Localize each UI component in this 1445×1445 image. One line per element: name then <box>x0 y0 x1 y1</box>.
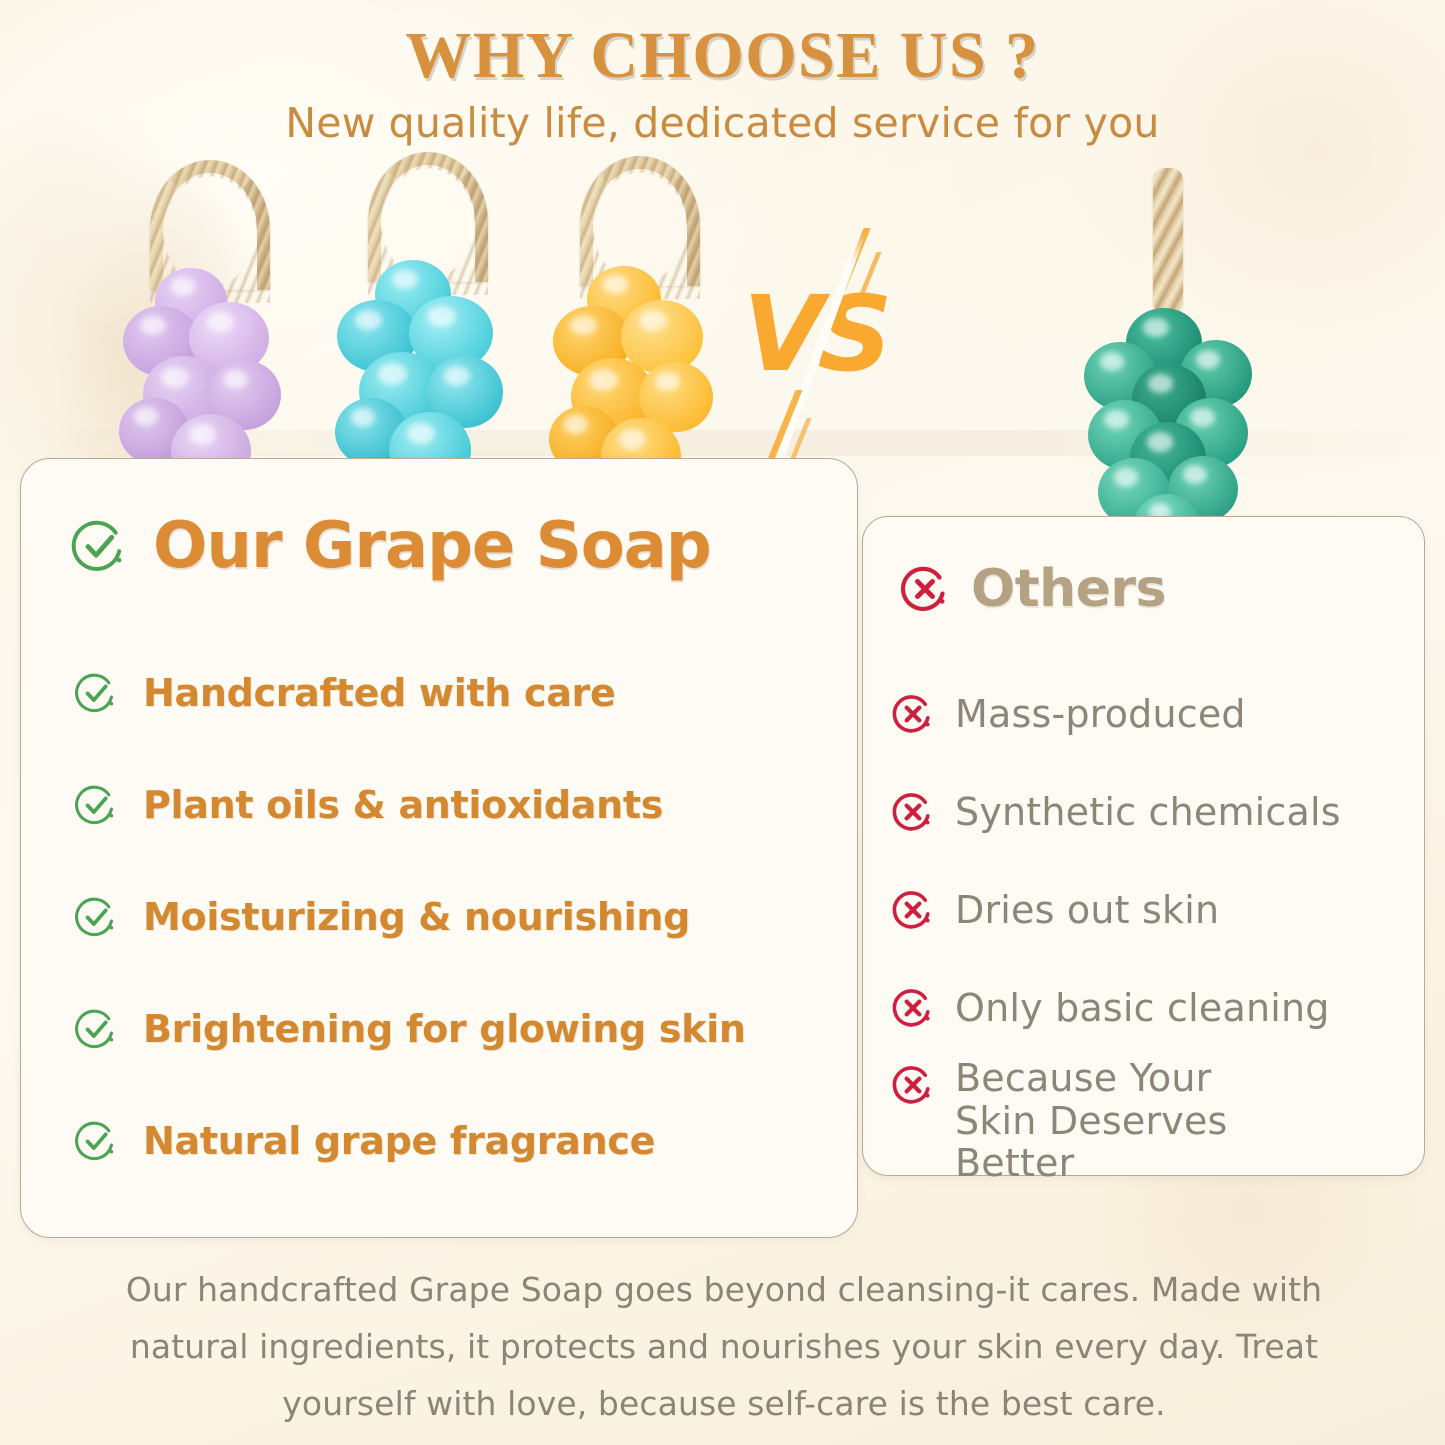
others-feature-list: Mass-produced Synthetic chemicals <box>891 665 1401 1185</box>
x-circle-icon <box>891 1063 935 1107</box>
page-subtitle: New quality life, dedicated service for … <box>0 99 1445 147</box>
list-item-label: Synthetic chemicals <box>955 791 1341 834</box>
list-item: Brightening for glowing skin <box>73 973 813 1085</box>
product-purple-grape-soap <box>110 150 310 510</box>
list-item-label: Natural grape fragrance <box>143 1119 655 1163</box>
others-card-title: Others <box>971 563 1166 615</box>
list-item-label: Only basic cleaning <box>955 987 1330 1030</box>
list-item: Natural grape fragrance <box>73 1085 813 1197</box>
list-item: Mass-produced <box>891 665 1401 763</box>
product-amber-grape-soap <box>540 146 740 506</box>
check-circle-icon <box>73 670 119 716</box>
rope-hanger-icon <box>1153 168 1183 314</box>
list-item: Dries out skin <box>891 861 1401 959</box>
ours-card-header: Our Grape Soap <box>69 514 711 578</box>
ours-card-title: Our Grape Soap <box>153 514 711 578</box>
list-item-label: Because Your Skin Deserves Better <box>955 1057 1285 1185</box>
infographic-page: WHY CHOOSE US ? New quality life, dedica… <box>0 0 1445 1445</box>
x-circle-icon <box>891 790 935 834</box>
list-item-label: Dries out skin <box>955 889 1219 932</box>
others-card: Others Mass-produced <box>862 516 1425 1176</box>
vs-badge: VS <box>735 240 905 460</box>
product-green-grape-soap <box>1068 168 1268 568</box>
header: WHY CHOOSE US ? New quality life, dedica… <box>0 20 1445 147</box>
check-circle-icon <box>73 782 119 828</box>
list-item-label: Plant oils & antioxidants <box>143 783 663 827</box>
ours-card: Our Grape Soap Handcrafted with care <box>20 458 858 1238</box>
list-item: Handcrafted with care <box>73 637 813 749</box>
x-circle-icon <box>899 563 951 615</box>
list-item: Plant oils & antioxidants <box>73 749 813 861</box>
check-circle-icon <box>69 516 129 576</box>
x-circle-icon <box>891 986 935 1030</box>
x-circle-icon <box>891 692 935 736</box>
check-circle-icon <box>73 1118 119 1164</box>
footer-description: Our handcrafted Grape Soap goes beyond c… <box>110 1262 1338 1432</box>
page-title: WHY CHOOSE US ? <box>0 20 1445 91</box>
others-card-header: Others <box>899 563 1166 615</box>
x-circle-icon <box>891 888 935 932</box>
list-item-label: Mass-produced <box>955 693 1246 736</box>
list-item-label: Handcrafted with care <box>143 671 615 715</box>
check-circle-icon <box>73 894 119 940</box>
list-item: Only basic cleaning <box>891 959 1401 1057</box>
list-item: Synthetic chemicals <box>891 763 1401 861</box>
product-teal-grape-soap <box>328 142 528 502</box>
list-item: Moisturizing & nourishing <box>73 861 813 973</box>
list-item-label: Moisturizing & nourishing <box>143 895 690 939</box>
list-item: Because Your Skin Deserves Better <box>891 1057 1401 1185</box>
check-circle-icon <box>73 1006 119 1052</box>
list-item-label: Brightening for glowing skin <box>143 1007 746 1051</box>
ours-feature-list: Handcrafted with care Plant oils & antio… <box>73 637 813 1197</box>
